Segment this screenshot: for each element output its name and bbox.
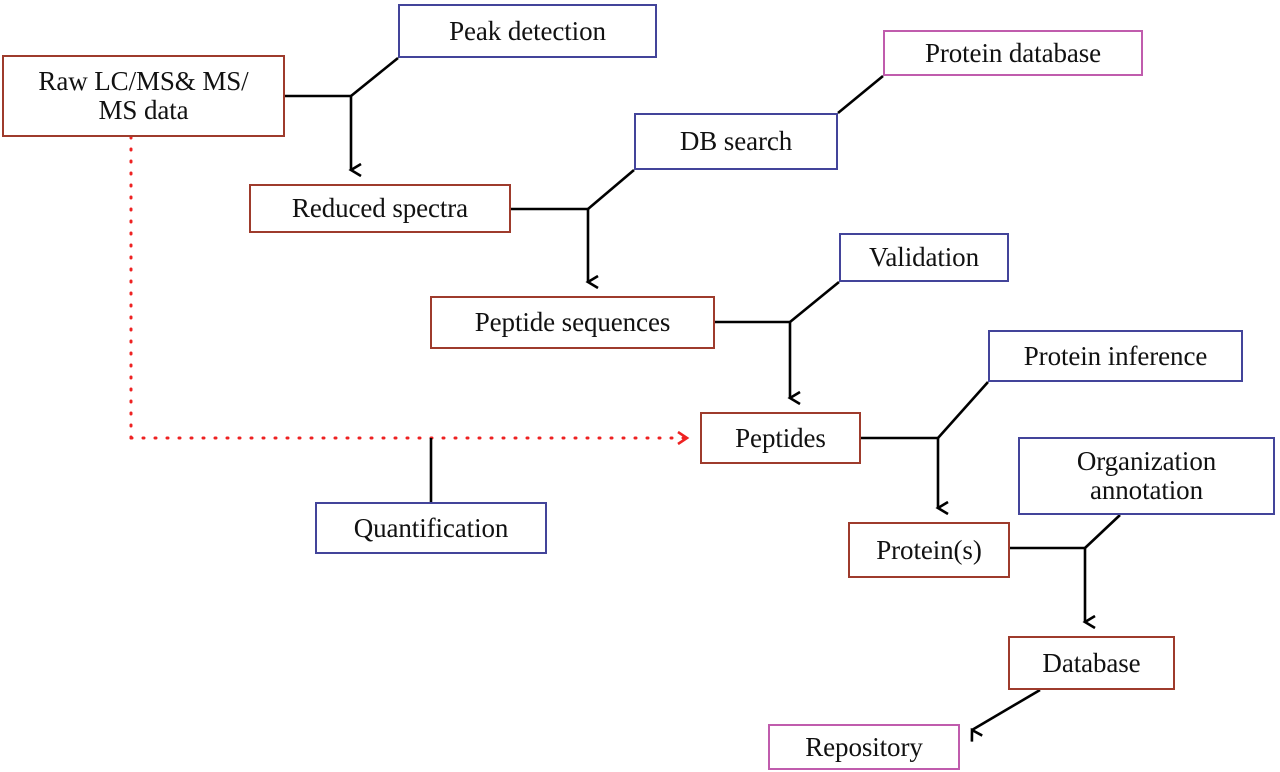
node-label: Reduced spectra [251,194,509,223]
node-raw-lc-ms-data[interactable]: Raw LC/MS& MS/ MS data [2,55,285,137]
edge-reduced-to-pepseq [511,170,634,282]
node-peptides[interactable]: Peptides [700,412,861,464]
node-peak-detection[interactable]: Peak detection [398,4,657,58]
node-label: Repository [770,733,958,762]
node-label: Quantification [317,514,545,543]
edge-raw-to-peptides-dotted [131,137,686,438]
node-database[interactable]: Database [1008,636,1175,690]
edge-raw-to-reduced [285,58,398,170]
node-label: Validation [841,243,1007,272]
node-label: Peptides [702,424,859,453]
node-db-search[interactable]: DB search [634,113,838,170]
edge-proteins-to-database [1010,515,1120,622]
node-repository[interactable]: Repository [768,724,960,770]
node-protein-database[interactable]: Protein database [883,30,1143,76]
node-label: Organization annotation [1020,447,1273,504]
node-protein-inference[interactable]: Protein inference [988,330,1243,382]
workflow-diagram: peptides, with quantification tapping th… [0,0,1280,772]
edge-database-to-repository [972,690,1040,730]
node-reduced-spectra[interactable]: Reduced spectra [249,184,511,233]
node-label: DB search [636,127,836,156]
node-peptide-sequences[interactable]: Peptide sequences [430,296,715,349]
node-proteins[interactable]: Protein(s) [848,522,1010,578]
node-validation[interactable]: Validation [839,233,1009,282]
node-label: Protein(s) [850,536,1008,565]
edge-pepseq-to-peptides [715,282,839,398]
node-label: Protein database [885,39,1141,68]
node-label: Protein inference [990,342,1241,371]
node-label: Peak detection [400,17,655,46]
node-label: Peptide sequences [432,308,713,337]
node-label: Database [1010,649,1173,678]
node-organization-annotation[interactable]: Organization annotation [1018,437,1275,515]
node-quantification[interactable]: Quantification [315,502,547,554]
edge-protdb-to-dbsearch [838,76,883,113]
node-label: Raw LC/MS& MS/ MS data [4,67,283,124]
edge-peptides-to-proteins [861,382,988,508]
